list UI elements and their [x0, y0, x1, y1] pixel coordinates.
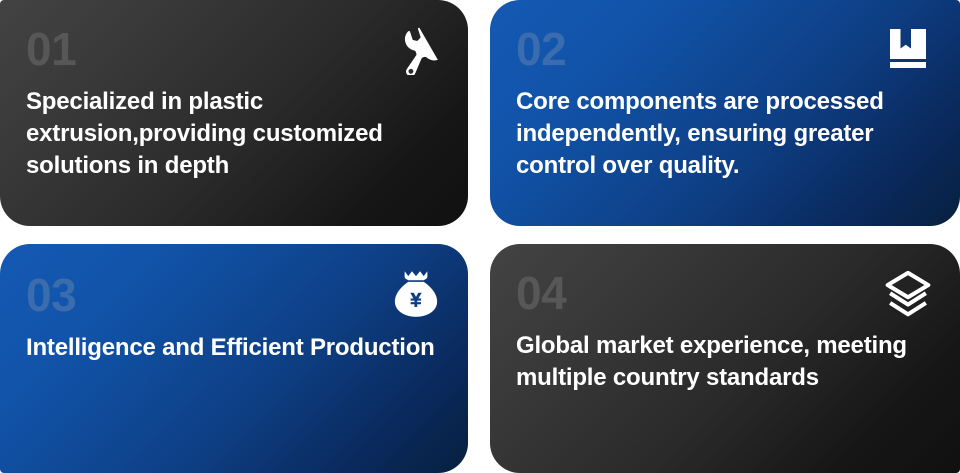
- feature-card-01[interactable]: 01 Specialized in plastic extrusion,prov…: [0, 0, 468, 226]
- card-03-body: 03 Intelligence and Efficient Production: [24, 272, 444, 364]
- card-number: 03: [26, 272, 444, 318]
- layers-stack-icon: [882, 268, 934, 320]
- card-text: Core components are processed independen…: [516, 86, 936, 182]
- card-text: Intelligence and Efficient Production: [26, 332, 444, 364]
- book-bookmark-icon: [882, 24, 934, 76]
- card-number: 02: [516, 26, 936, 72]
- card-number: 01: [26, 26, 444, 72]
- wrench-icon: [390, 24, 442, 76]
- card-text: Specialized in plastic extrusion,providi…: [26, 86, 444, 182]
- feature-card-02[interactable]: 02 Core components are processed indepen…: [490, 0, 960, 226]
- money-bag-yen-icon: [390, 268, 442, 320]
- feature-card-04[interactable]: 04 Global market experience, meeting mul…: [490, 244, 960, 473]
- feature-card-grid: 01 Specialized in plastic extrusion,prov…: [0, 0, 960, 459]
- feature-card-03[interactable]: 03 Intelligence and Efficient Production: [0, 244, 468, 473]
- card-text: Global market experience, meeting multip…: [516, 330, 916, 394]
- card-number: 04: [516, 270, 936, 316]
